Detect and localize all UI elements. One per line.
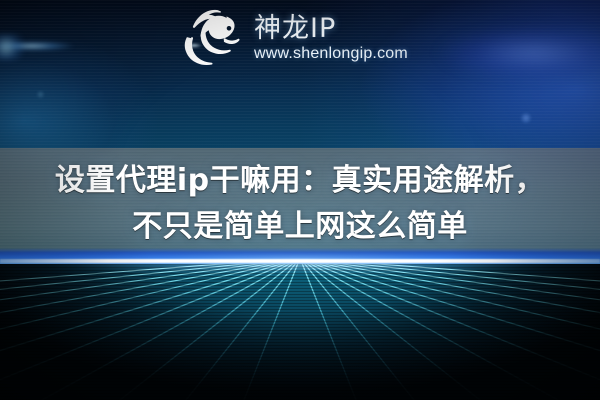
horizon-core-beam <box>0 259 600 263</box>
headline-line-1: 设置代理ip干嘛用：真实用途解析， <box>55 159 545 203</box>
brand-wordmark: 神龙IP www.shenlongip.com <box>254 12 408 63</box>
banner-image: 神龙IP www.shenlongip.com 设置代理ip干嘛用：真实用途解析… <box>0 0 600 400</box>
sparkle-icon <box>36 90 45 99</box>
left-lens-flare-core <box>0 34 28 60</box>
brand-name: 神龙IP <box>254 14 408 44</box>
headline-line-2: 不只是简单上网这么简单 <box>132 205 468 249</box>
sparkle-icon <box>520 112 532 124</box>
floor-vignette <box>0 258 600 400</box>
brand-website: www.shenlongip.com <box>254 44 408 63</box>
dragon-mark-icon <box>174 7 246 67</box>
horizon-light-line <box>0 248 600 270</box>
headline: 设置代理ip干嘛用：真实用途解析， 不只是简单上网这么简单 <box>0 152 600 256</box>
brand-logo: 神龙IP www.shenlongip.com <box>174 6 434 68</box>
perspective-grid-floor <box>0 258 600 400</box>
